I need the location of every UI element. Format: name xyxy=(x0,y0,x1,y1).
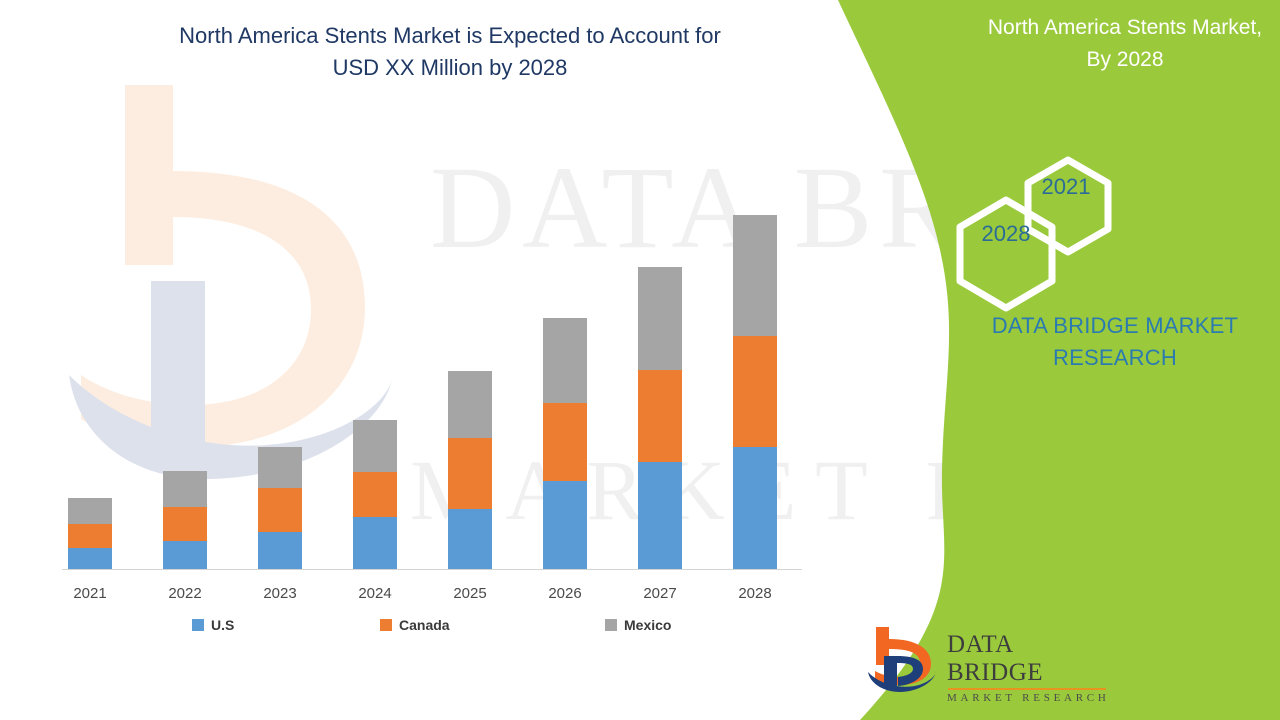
x-axis-label-2025: 2025 xyxy=(425,585,515,602)
hexagon-label-2021: 2021 xyxy=(1036,174,1096,200)
legend-item-us[interactable]: U.S xyxy=(192,617,234,633)
bar-segment-canada xyxy=(638,370,682,462)
bar-segment-us xyxy=(353,517,397,569)
legend-label: Mexico xyxy=(624,617,671,633)
chart-title-line-2: USD XX Million by 2028 xyxy=(110,52,790,84)
x-axis-label-2026: 2026 xyxy=(520,585,610,602)
x-axis-label-2023: 2023 xyxy=(235,585,325,602)
x-axis-label-2022: 2022 xyxy=(140,585,230,602)
hexagon-2021-shape xyxy=(1028,160,1108,252)
x-axis-tick-labels: 20212022202320242025202620272028 xyxy=(40,585,820,611)
legend-swatch-gray xyxy=(605,619,617,631)
bar-segment-mexico xyxy=(638,267,682,370)
infographic-canvas: DATA BRIDGE MARKET RESEARCH North Americ… xyxy=(0,0,1280,720)
bar-segment-mexico xyxy=(163,471,207,507)
bar-segment-us xyxy=(733,447,777,569)
bar-segment-mexico xyxy=(68,498,112,524)
bar-segment-mexico xyxy=(448,371,492,438)
brand-panel-name: DATA BRIDGE MARKET RESEARCH xyxy=(960,310,1270,374)
legend-item-canada[interactable]: Canada xyxy=(380,617,450,633)
legend-swatch-orange xyxy=(380,619,392,631)
bar-segment-canada xyxy=(163,507,207,541)
bar-segment-canada xyxy=(68,524,112,548)
x-axis-line xyxy=(62,569,802,570)
bar-column xyxy=(68,498,112,569)
bar-segment-mexico xyxy=(258,447,302,488)
bar-segment-mexico xyxy=(543,318,587,403)
bar-column xyxy=(163,471,207,569)
hexagon-label-2028: 2028 xyxy=(976,221,1036,247)
brand-panel-title: North America Stents Market, By 2028 xyxy=(980,12,1270,76)
chart-legend: U.SCanadaMexico xyxy=(40,617,820,641)
chart-title-line-1: North America Stents Market is Expected … xyxy=(110,20,790,52)
brand-name-line-1: DATA BRIDGE MARKET xyxy=(960,310,1270,342)
bar-segment-us xyxy=(68,548,112,569)
bar-segment-us xyxy=(448,509,492,569)
bar-segment-canada xyxy=(258,488,302,532)
bar-segment-mexico xyxy=(353,420,397,472)
company-logo: DATA BRIDGE MARKET RESEARCH xyxy=(865,625,1115,700)
bar-segment-us xyxy=(638,462,682,569)
bar-segment-mexico xyxy=(733,215,777,336)
hexagon-2028-shape xyxy=(960,200,1052,308)
x-axis-label-2027: 2027 xyxy=(615,585,705,602)
brand-panel-title-line-1: North America Stents Market, xyxy=(980,12,1270,44)
bar-segment-canada xyxy=(448,438,492,509)
bar-segment-us xyxy=(163,541,207,569)
bar-column xyxy=(353,420,397,569)
company-logo-rule xyxy=(948,688,1106,690)
x-axis-label-2028: 2028 xyxy=(710,585,800,602)
bar-segment-us xyxy=(543,481,587,569)
brand-name-line-2: RESEARCH xyxy=(960,342,1270,374)
brand-panel-title-line-2: By 2028 xyxy=(980,44,1270,76)
legend-label: U.S xyxy=(211,617,234,633)
x-axis-label-2021: 2021 xyxy=(45,585,135,602)
bar-segment-canada xyxy=(353,472,397,517)
bar-series-group xyxy=(40,181,820,569)
bar-column xyxy=(638,267,682,569)
bar-column xyxy=(733,215,777,569)
bar-segment-us xyxy=(258,532,302,569)
legend-item-mexico[interactable]: Mexico xyxy=(605,617,671,633)
x-axis-label-2024: 2024 xyxy=(330,585,420,602)
company-logo-subtitle: MARKET RESEARCH xyxy=(947,692,1115,705)
bar-column xyxy=(543,318,587,569)
chart-title: North America Stents Market is Expected … xyxy=(110,20,790,84)
bar-segment-canada xyxy=(543,403,587,481)
brand-panel: North America Stents Market, By 2028 202… xyxy=(820,0,1280,720)
company-logo-name: DATA BRIDGE xyxy=(947,631,1115,687)
company-logo-text: DATA BRIDGE MARKET RESEARCH xyxy=(947,631,1115,705)
bar-segment-canada xyxy=(733,336,777,447)
databridge-b-icon xyxy=(865,625,937,693)
chart-plot-area xyxy=(40,180,820,570)
legend-swatch-blue xyxy=(192,619,204,631)
legend-label: Canada xyxy=(399,617,450,633)
bar-column xyxy=(258,447,302,569)
bar-column xyxy=(448,371,492,569)
